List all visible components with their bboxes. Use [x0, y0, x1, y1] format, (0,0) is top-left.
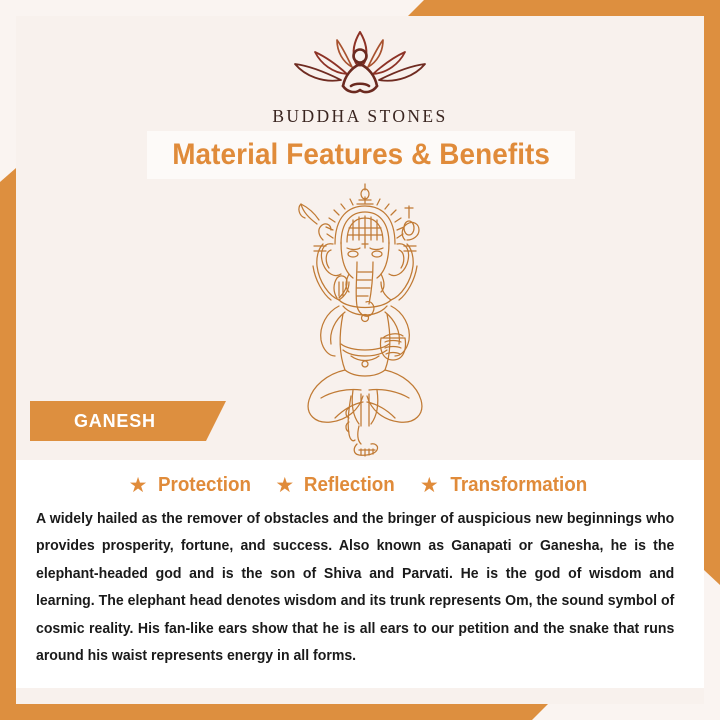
- section-ribbon-label: GANESH: [74, 411, 156, 432]
- benefit-label: Protection: [157, 474, 250, 497]
- frame-top-accent: [0, 0, 720, 16]
- benefit-label: Reflection: [304, 474, 395, 497]
- star-icon: ★: [275, 475, 294, 496]
- description-paragraph: A widely hailed as the remover of obstac…: [36, 506, 674, 671]
- ganesh-illustration: [265, 178, 465, 460]
- benefit-item-transformation: ★ Transformation: [420, 474, 591, 497]
- benefits-list: ★ Protection ★ Reflection ★ Transformati…: [36, 474, 684, 497]
- content-card: ★ Protection ★ Reflection ★ Transformati…: [16, 460, 704, 688]
- frame-left-accent: [0, 168, 16, 720]
- benefit-item-reflection: ★ Reflection: [275, 474, 398, 497]
- section-ribbon: GANESH: [30, 401, 226, 441]
- page-title: Material Features & Benefits: [172, 138, 550, 172]
- lotus-meditation-icon: [275, 24, 445, 102]
- benefit-label: Transformation: [450, 474, 587, 497]
- star-icon: ★: [420, 475, 439, 496]
- brand-logo: BUDDHA STONES: [0, 24, 720, 127]
- frame-bottom-accent: [0, 704, 720, 720]
- ganesh-line-art-illustration: [265, 178, 465, 460]
- star-icon: ★: [129, 475, 148, 496]
- brand-name: BUDDHA STONES: [0, 106, 720, 127]
- poster-page: BUDDHA STONES Material Features & Benefi…: [0, 0, 720, 720]
- title-banner: Material Features & Benefits: [147, 131, 575, 179]
- benefit-item-protection: ★ Protection: [129, 474, 254, 497]
